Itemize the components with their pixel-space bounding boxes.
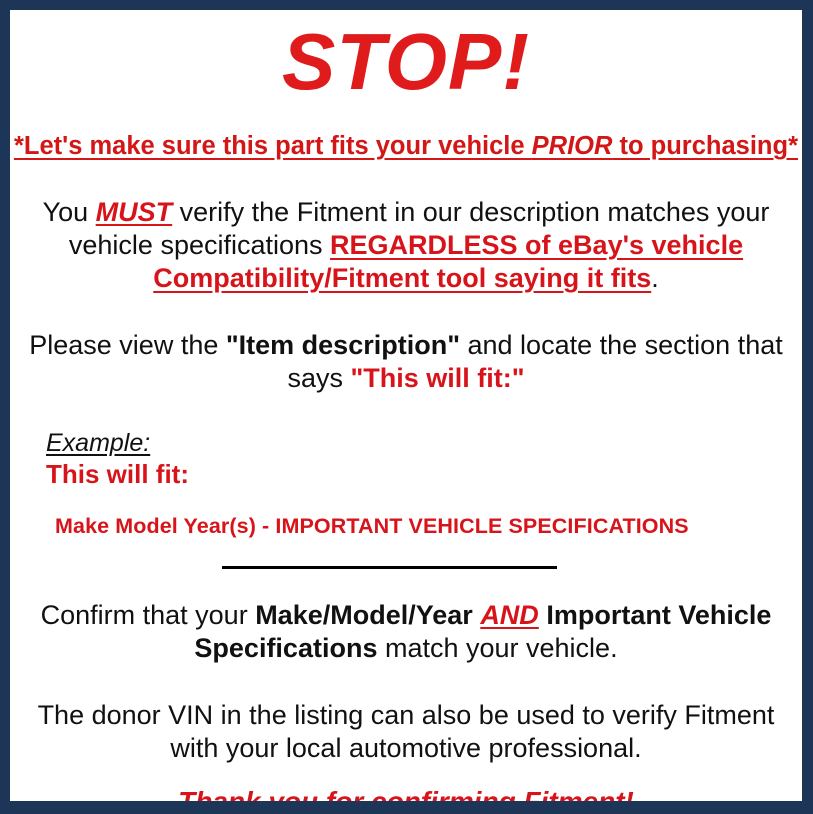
example-label-row: Example: <box>46 429 802 458</box>
emphasis-and: AND <box>480 600 539 630</box>
paragraph-must: You MUST verify the Fitment in our descr… <box>10 160 802 295</box>
subheadline: *Let's make sure this part fits your veh… <box>10 102 802 160</box>
example-block: Example: This will fit: Make Model Year(… <box>10 395 802 539</box>
example-label: Example: <box>46 429 150 458</box>
subheadline-suffix: to purchasing* <box>612 132 798 160</box>
closing-message: Thank you for confirming Fitment! <box>10 764 802 814</box>
paragraph-item-description: Please view the "Item description" and l… <box>10 295 802 395</box>
emphasis-this-will-fit: "This will fit:" <box>350 363 524 393</box>
emphasis-must: MUST <box>96 197 173 227</box>
notice-inner: STOP! *Let's make sure this part fits yo… <box>10 10 802 801</box>
paragraph-confirm: Confirm that your Make/Model/Year AND Im… <box>10 569 802 665</box>
paragraph-vin: The donor VIN in the listing can also be… <box>10 665 802 765</box>
example-this-will-fit: This will fit: <box>46 457 802 489</box>
subheadline-prefix: *Let's make sure this part fits your veh… <box>14 132 532 160</box>
confirm-seg1: Confirm that your <box>41 600 256 630</box>
example-spec-line: Make Model Year(s) - IMPORTANT VEHICLE S… <box>46 489 802 539</box>
subheadline-emphasis-prior: PRIOR <box>532 132 613 160</box>
divider-wrap <box>10 539 802 569</box>
emphasis-item-description: "Item description" <box>226 330 460 360</box>
emphasis-make-model-year: Make/Model/Year <box>255 600 473 630</box>
must-seg3: . <box>651 263 659 293</box>
itemdesc-seg1: Please view the <box>29 330 226 360</box>
must-seg1: You <box>43 197 96 227</box>
page-title: STOP! <box>10 10 802 102</box>
confirm-seg4: match your vehicle. <box>377 633 617 663</box>
fitment-notice-card: STOP! *Let's make sure this part fits yo… <box>0 0 813 814</box>
